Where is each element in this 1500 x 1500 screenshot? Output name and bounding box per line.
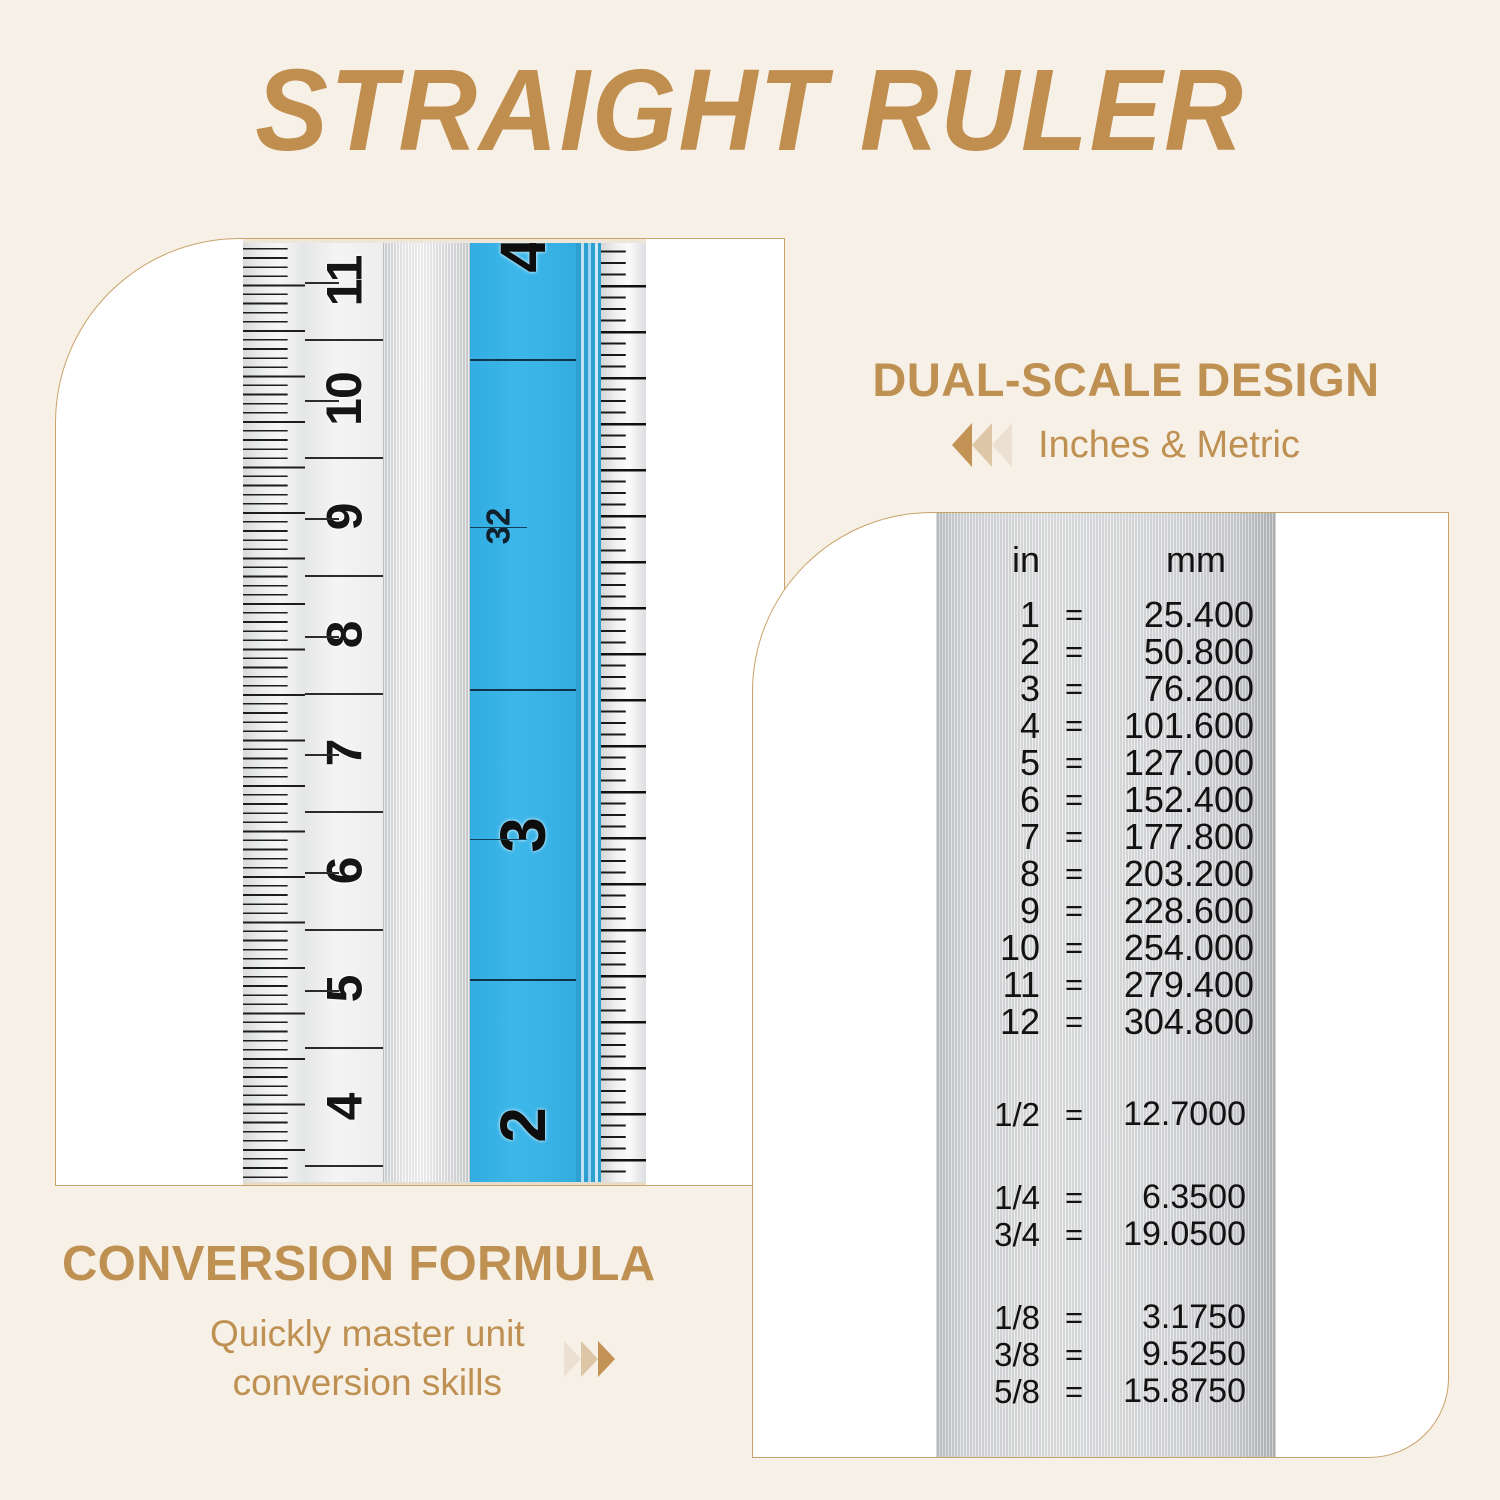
cell-eq: = [1046,1300,1102,1336]
inch-cell: 2 [470,981,576,1186]
ruler-photo-card: 11 10 9 8 7 6 5 4 4 32 [55,238,785,1186]
metric-label: 10 [315,372,373,426]
cell-eq: = [1046,1004,1102,1040]
table-row: 3/4=19.0500 [936,1216,1276,1253]
conversion-formula-heading: CONVERSION FORMULA [62,1236,762,1292]
cell-eq: = [1046,856,1102,892]
metric-label: 9 [315,504,373,531]
cell-mm: 9.5250 [1102,1335,1276,1374]
cell-mm: 50.800 [1102,631,1276,673]
cell-in: 4 [936,705,1046,747]
inch-tick-strip [601,239,646,1185]
conversion-formula-subheading: Quickly master unit conversion skills [210,1310,525,1408]
cell-in: 12 [936,1001,1046,1043]
metric-label: 4 [315,1094,373,1121]
table-gap [936,1040,1276,1096]
table-row: 4=101.600 [936,707,1276,744]
conversion-formula-subheading-line1: Quickly master unit [210,1310,525,1359]
metric-label: 5 [315,976,373,1003]
metric-number-column: 11 10 9 8 7 6 5 4 [305,239,383,1185]
table-row: 7=177.800 [936,818,1276,855]
inch-label: 2 [486,1107,560,1143]
table-row: 5/8=15.8750 [936,1373,1276,1410]
cell-mm: 152.400 [1102,779,1276,821]
inch-number-column: 4 32 3 2 [470,239,576,1185]
dual-scale-heading: DUAL-SCALE DESIGN [826,352,1426,407]
cell-in: 1/2 [936,1096,1046,1134]
table-gap [936,1253,1276,1299]
cell-in: 3 [936,668,1046,710]
inch-cell: 3 [470,691,576,981]
table-row: 5=127.000 [936,744,1276,781]
cell-mm: 228.600 [1102,890,1276,932]
cell-mm: 19.0500 [1102,1215,1276,1254]
cell-eq: = [1046,1337,1102,1373]
cell-eq: = [1046,930,1102,966]
cell-in: 2 [936,631,1046,673]
cell-in: 3/4 [936,1216,1046,1254]
table-row: 3=76.200 [936,670,1276,707]
cell-in: 5 [936,742,1046,784]
metric-tick-strip [243,239,305,1185]
cell-mm: 203.200 [1102,853,1276,895]
cell-mm: 76.200 [1102,668,1276,710]
table-row: 1=25.400 [936,596,1276,633]
cell-in: 10 [936,927,1046,969]
cell-mm: 101.600 [1102,705,1276,747]
metric-label: 11 [315,256,373,307]
header-in: in [936,539,1046,581]
cell-mm: 304.800 [1102,1001,1276,1043]
table-row: 6=152.400 [936,781,1276,818]
cell-in: 7 [936,816,1046,858]
cell-in: 9 [936,890,1046,932]
table-row: 2=50.800 [936,633,1276,670]
inch-cell: 4 [470,238,576,361]
cell-eq: = [1046,1374,1102,1410]
table-row: 1/2=12.7000 [936,1096,1276,1133]
table-gap [936,1133,1276,1179]
table-row: 3/8=9.5250 [936,1336,1276,1373]
table-row: 12=304.800 [936,1003,1276,1040]
metric-label: 8 [315,622,373,649]
conversion-table: in mm 1=25.400 2=50.800 3=76.200 4=101.6… [936,513,1276,1457]
table-row: 9=228.600 [936,892,1276,929]
conversion-formula-subrow: Quickly master unit conversion skills [62,1310,762,1408]
cell-eq: = [1046,1217,1102,1253]
inch-label: 4 [486,238,560,273]
cell-eq: = [1046,819,1102,855]
table-row: 11=279.400 [936,966,1276,1003]
metric-label: 6 [315,858,373,885]
cell-in: 8 [936,853,1046,895]
dual-scale-subheading: Inches & Metric [1038,424,1300,467]
metric-label: 7 [315,740,373,767]
inch-rail-lines [576,239,601,1185]
table-row: 8=203.200 [936,855,1276,892]
cell-eq: = [1046,782,1102,818]
ruler-image: 11 10 9 8 7 6 5 4 4 32 [243,239,646,1185]
header-mm: mm [1102,539,1276,581]
table-row: 1/8=3.1750 [936,1299,1276,1336]
conversion-table-card: in mm 1=25.400 2=50.800 3=76.200 4=101.6… [752,512,1449,1458]
cell-in: 5/8 [936,1373,1046,1411]
cell-mm: 127.000 [1102,742,1276,784]
cell-mm: 254.000 [1102,927,1276,969]
cell-mm: 177.800 [1102,816,1276,858]
cell-eq: = [1046,745,1102,781]
chevron-right-group [559,1341,610,1377]
cell-in: 1/4 [936,1179,1046,1217]
cell-in: 1/8 [936,1299,1046,1337]
cell-eq: = [1046,597,1102,633]
cell-mm: 6.3500 [1102,1178,1276,1217]
inch-label: 3 [486,817,560,853]
cell-eq: = [1046,967,1102,1003]
metric-cell: 11 [305,238,383,341]
infographic-stage: STRAIGHT RULER 11 10 9 8 7 6 5 [0,0,1500,1500]
conversion-formula-feature-block: CONVERSION FORMULA Quickly master unit c… [62,1236,762,1408]
cell-eq: = [1046,893,1102,929]
ruler-bottom-edge [243,1182,646,1185]
cell-eq: = [1046,708,1102,744]
cell-mm: 12.7000 [1102,1095,1276,1134]
cell-mm: 3.1750 [1102,1298,1276,1337]
ruler-top-edge [243,239,646,243]
inch-cell-spacer [470,361,576,691]
table-row: 10=254.000 [936,929,1276,966]
table-header-row: in mm [936,541,1276,578]
dual-scale-feature-block: DUAL-SCALE DESIGN Inches & Metric [826,352,1426,467]
dual-scale-subrow: Inches & Metric [826,423,1426,467]
ruler-spine [383,239,470,1185]
conversion-formula-subheading-line2: conversion skills [210,1359,525,1408]
chevron-left-icon [992,423,1018,467]
cell-mm: 279.400 [1102,964,1276,1006]
cell-eq: = [1046,1180,1102,1216]
cell-in: 1 [936,594,1046,636]
cell-eq: = [1046,634,1102,670]
cell-eq: = [1046,1097,1102,1133]
chevron-right-icon [593,1341,615,1377]
metric-cell: 4 [305,1049,383,1167]
table-row: 1/4=6.3500 [936,1179,1276,1216]
cell-in: 3/8 [936,1336,1046,1374]
cell-in: 11 [936,964,1046,1006]
chevron-left-group [952,423,1012,467]
cell-mm: 15.8750 [1102,1372,1276,1411]
cell-in: 6 [936,779,1046,821]
cell-mm: 25.400 [1102,594,1276,636]
cell-eq: = [1046,671,1102,707]
page-title: STRAIGHT RULER [45,52,1455,168]
